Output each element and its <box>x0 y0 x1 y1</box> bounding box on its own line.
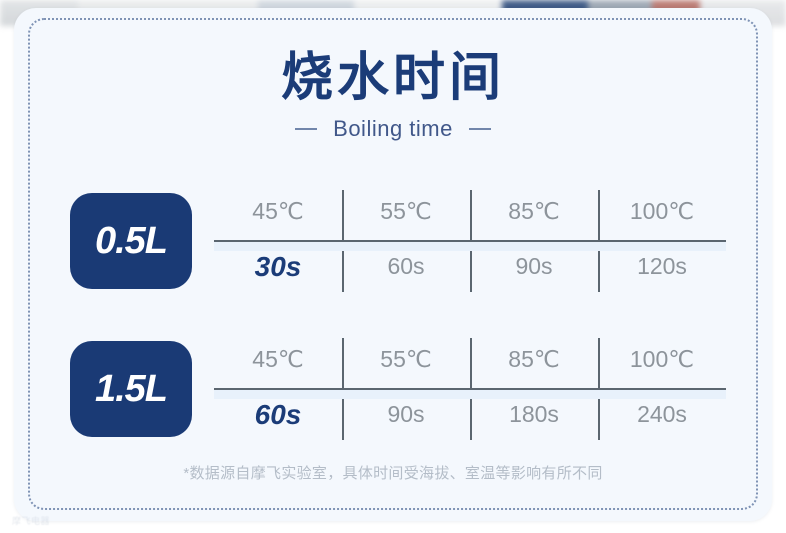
capacity-badge: 0.5L <box>70 193 192 289</box>
temperature-header: 100℃ <box>598 190 726 241</box>
header-divider-line <box>214 240 726 242</box>
page-subtitle: Boiling time <box>333 116 453 142</box>
subtitle-row: Boiling time <box>14 116 772 142</box>
heading-block: 烧水时间 Boiling time <box>14 48 772 142</box>
temperature-header: 85℃ <box>470 338 598 389</box>
page-root: 烧水时间 Boiling time 0.5L 45℃ 3 <box>0 0 786 533</box>
spec-row: 1.5L 45℃ 60s 55℃ 90s <box>14 334 772 444</box>
header-divider-line <box>214 388 726 390</box>
boiling-time-table: 45℃ 30s 55℃ 60s 85℃ 90s <box>214 190 726 292</box>
temperature-header: 100℃ <box>598 338 726 389</box>
spec-row: 0.5L 45℃ 30s 55℃ 60s <box>14 186 772 296</box>
dash-right-icon <box>469 128 491 130</box>
spec-rows: 0.5L 45℃ 30s 55℃ 60s <box>14 186 772 482</box>
temperature-header: 45℃ <box>214 190 342 241</box>
capacity-badge: 1.5L <box>70 341 192 437</box>
temperature-header: 45℃ <box>214 338 342 389</box>
dash-left-icon <box>295 128 317 130</box>
temperature-header: 55℃ <box>342 338 470 389</box>
boiling-time-table: 45℃ 60s 55℃ 90s 85℃ 180s <box>214 338 726 440</box>
temperature-header: 85℃ <box>470 190 598 241</box>
page-title: 烧水时间 <box>14 48 772 108</box>
watermark: 摩飞电器 <box>12 514 50 527</box>
footnote-text: *数据源自摩飞实验室，具体时间受海拔、室温等影响有所不同 <box>14 462 772 483</box>
temperature-header: 55℃ <box>342 190 470 241</box>
row-highlight-band <box>214 390 726 399</box>
info-card: 烧水时间 Boiling time 0.5L 45℃ 3 <box>14 8 772 521</box>
row-highlight-band <box>214 242 726 251</box>
